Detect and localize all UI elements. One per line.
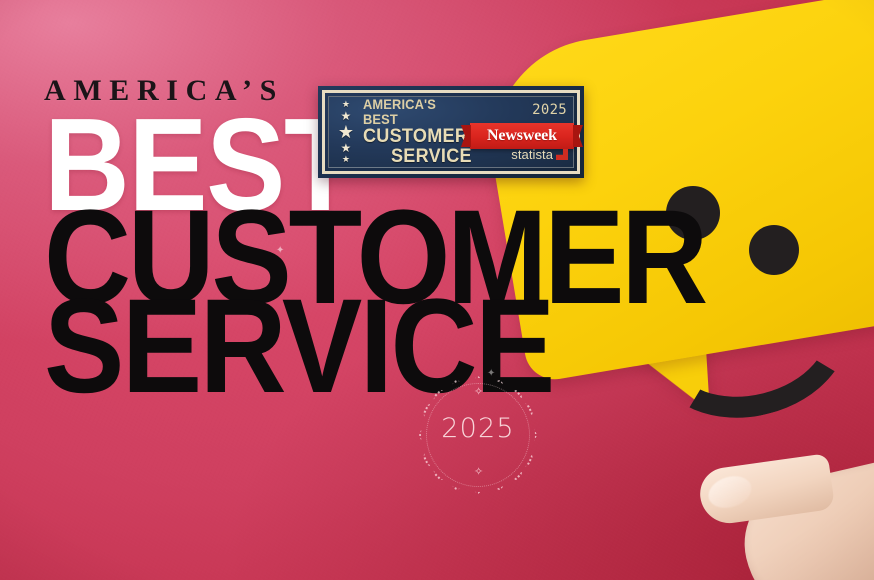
- seal-mark-bottom-icon: ✧: [474, 468, 483, 477]
- statista-logo-icon: [556, 149, 568, 160]
- award-badge-inner-frame: ★ ★ ★ ★ ★ AMERICA'S BEST CUSTOMER SERVIC…: [322, 90, 580, 174]
- star-icon: ★: [341, 110, 352, 122]
- award-badge-stars: ★ ★ ★ ★ ★: [329, 100, 361, 164]
- award-badge-year: 2025: [532, 102, 567, 118]
- statista-wordmark: statista: [511, 147, 553, 162]
- star-icon: ★: [338, 123, 354, 141]
- award-badge-line-americas-best: AMERICA'S BEST: [363, 97, 467, 128]
- award-badge-text: AMERICA'S BEST CUSTOMER SERVICE: [361, 97, 476, 168]
- award-badge-line-service: SERVICE: [391, 147, 472, 167]
- star-icon: ★: [342, 100, 350, 109]
- poster-canvas: AMERICA’S BEST CUSTOMER SERVICE ✦ ✦ ✧ 20…: [0, 0, 874, 580]
- newsweek-wordmark: Newsweek: [487, 127, 557, 145]
- award-badge-face: ★ ★ ★ ★ ★ AMERICA'S BEST CUSTOMER SERVIC…: [328, 96, 574, 168]
- star-icon: ★: [342, 155, 350, 164]
- award-badge: ★ ★ ★ ★ ★ AMERICA'S BEST CUSTOMER SERVIC…: [318, 86, 584, 178]
- star-icon: ★: [341, 142, 352, 154]
- year-seal-label: 2025: [415, 413, 541, 444]
- seal-mark-top-icon: ✧: [474, 388, 483, 397]
- award-badge-right: 2025 Newsweek statista: [476, 97, 573, 167]
- award-badge-line-customer: CUSTOMER: [363, 127, 470, 147]
- year-seal: ✧ 2025 ✧: [415, 372, 541, 498]
- newsweek-ribbon: Newsweek: [470, 123, 574, 149]
- statista-logo: statista: [511, 147, 568, 162]
